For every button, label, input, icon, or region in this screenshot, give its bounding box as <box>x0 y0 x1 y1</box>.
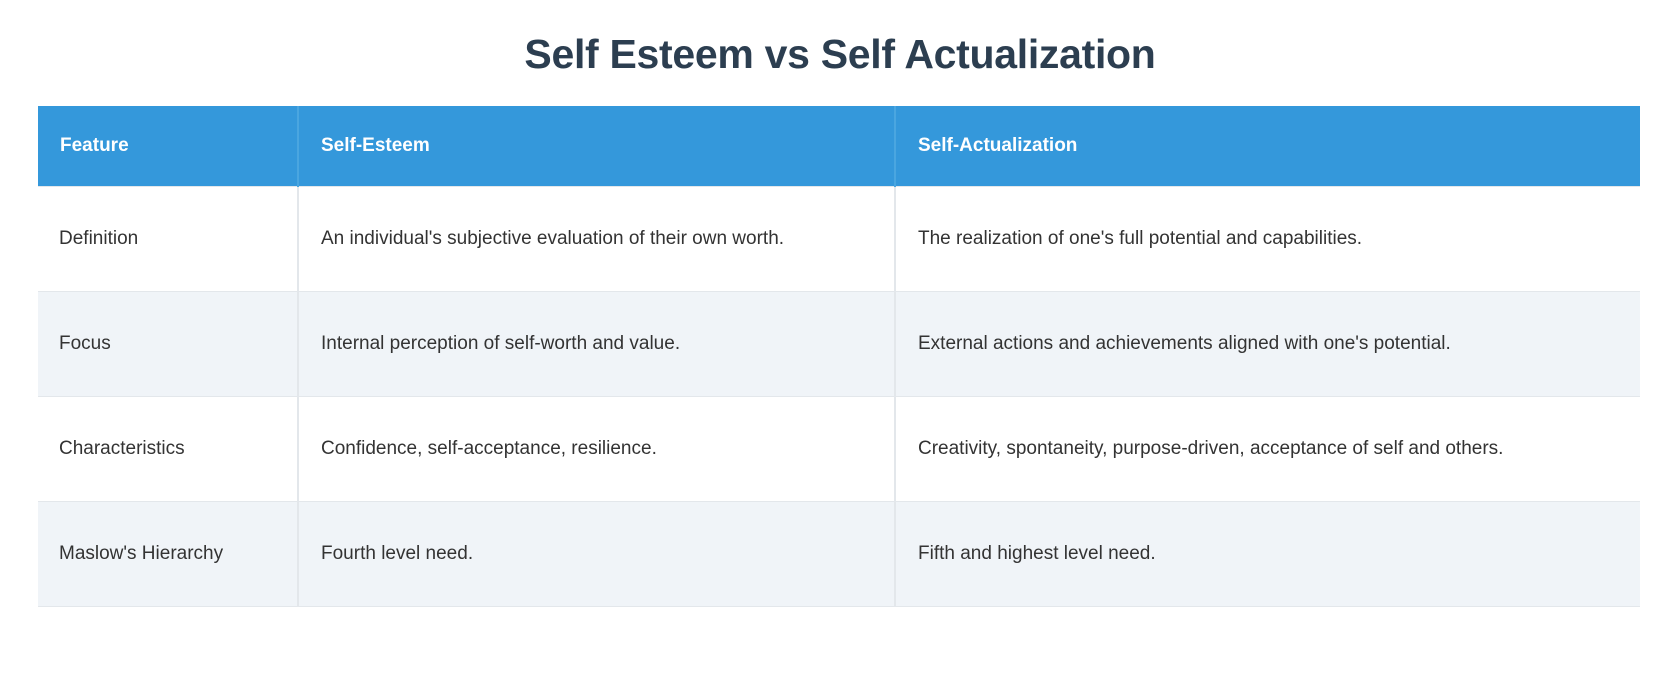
table-header: Feature Self-Esteem Self-Actualization <box>38 106 1640 186</box>
table-container: Feature Self-Esteem Self-Actualization D… <box>38 79 1640 607</box>
cell-feature: Characteristics <box>38 396 298 501</box>
cell-self-actualization: External actions and achievements aligne… <box>895 291 1640 396</box>
comparison-table-page: Self Esteem vs Self Actualization Featur… <box>0 0 1680 694</box>
cell-self-esteem: Confidence, self-acceptance, resilience. <box>298 396 895 501</box>
table-row: Definition An individual's subjective ev… <box>38 186 1640 291</box>
table-header-row: Feature Self-Esteem Self-Actualization <box>38 106 1640 186</box>
cell-self-actualization: Fifth and highest level need. <box>895 501 1640 606</box>
page-title: Self Esteem vs Self Actualization <box>0 0 1680 79</box>
cell-feature: Focus <box>38 291 298 396</box>
table-row: Characteristics Confidence, self-accepta… <box>38 396 1640 501</box>
cell-feature: Definition <box>38 186 298 291</box>
table-row: Focus Internal perception of self-worth … <box>38 291 1640 396</box>
cell-self-actualization: The realization of one's full potential … <box>895 186 1640 291</box>
column-header-feature[interactable]: Feature <box>38 106 298 186</box>
cell-self-actualization: Creativity, spontaneity, purpose-driven,… <box>895 396 1640 501</box>
cell-self-esteem: Internal perception of self-worth and va… <box>298 291 895 396</box>
cell-feature: Maslow's Hierarchy <box>38 501 298 606</box>
column-header-self-esteem[interactable]: Self-Esteem <box>298 106 895 186</box>
cell-self-esteem: An individual's subjective evaluation of… <box>298 186 895 291</box>
cell-self-esteem: Fourth level need. <box>298 501 895 606</box>
comparison-table: Feature Self-Esteem Self-Actualization D… <box>38 106 1640 607</box>
column-header-self-actualization[interactable]: Self-Actualization <box>895 106 1640 186</box>
table-row: Maslow's Hierarchy Fourth level need. Fi… <box>38 501 1640 606</box>
table-body: Definition An individual's subjective ev… <box>38 186 1640 606</box>
